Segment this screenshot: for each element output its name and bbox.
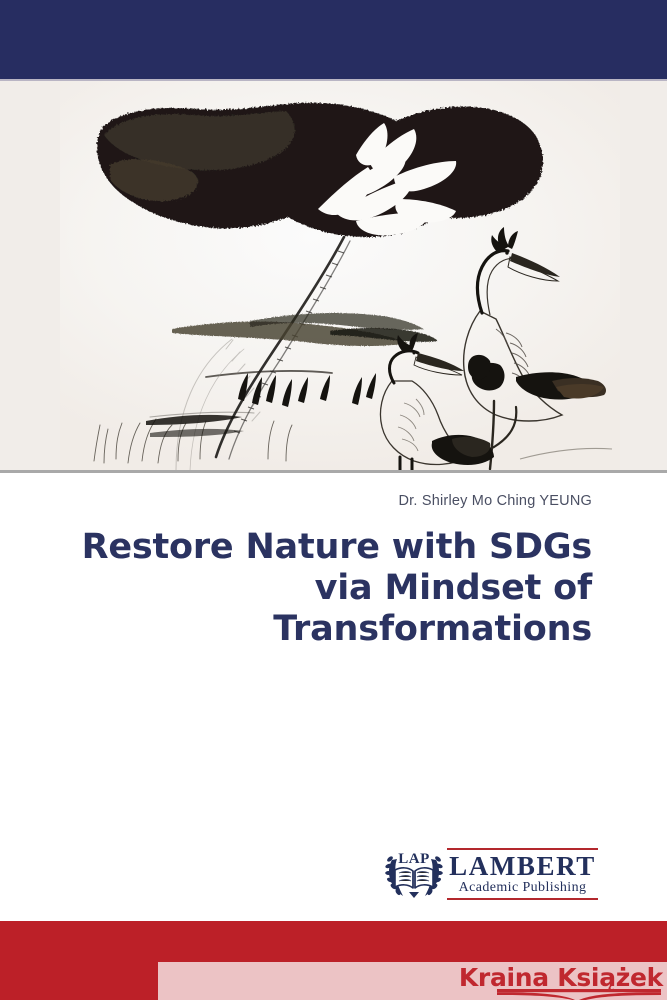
cover-artwork bbox=[0, 81, 667, 470]
watermark-label: Kraina Książek bbox=[459, 964, 663, 992]
title-line-2: via Mindset of bbox=[315, 568, 592, 608]
ink-painting-illustration bbox=[0, 81, 667, 470]
top-navy-band bbox=[0, 0, 667, 79]
lap-emblem-icon: LAP bbox=[383, 846, 445, 902]
lotus-leaf-mass bbox=[97, 103, 543, 237]
watermark-book-icon bbox=[497, 989, 661, 1000]
lotus-stem bbox=[216, 237, 350, 459]
title-line-1: Restore Nature with SDGs bbox=[82, 527, 592, 567]
logo-rule-top bbox=[447, 848, 598, 850]
publisher-name: LAMBERT bbox=[447, 852, 598, 880]
publisher-wordmark: LAMBERT Academic Publishing bbox=[447, 846, 598, 902]
title-line-3: Transformations bbox=[273, 609, 592, 649]
publisher-tagline: Academic Publishing bbox=[447, 880, 598, 896]
svg-text:LAP: LAP bbox=[398, 851, 430, 867]
heron-right bbox=[464, 227, 612, 469]
author-name: Dr. Shirley Mo Ching YEUNG bbox=[72, 493, 592, 509]
publisher-logo: LAP bbox=[383, 846, 598, 902]
artwork-bottom-divider bbox=[0, 470, 667, 473]
book-cover: Dr. Shirley Mo Ching YEUNG Restore Natur… bbox=[0, 0, 667, 1000]
logo-rule-bottom bbox=[447, 898, 598, 900]
dark-grass-blades bbox=[238, 373, 376, 407]
page-title: Restore Nature with SDGsvia Mindset ofTr… bbox=[72, 527, 592, 650]
